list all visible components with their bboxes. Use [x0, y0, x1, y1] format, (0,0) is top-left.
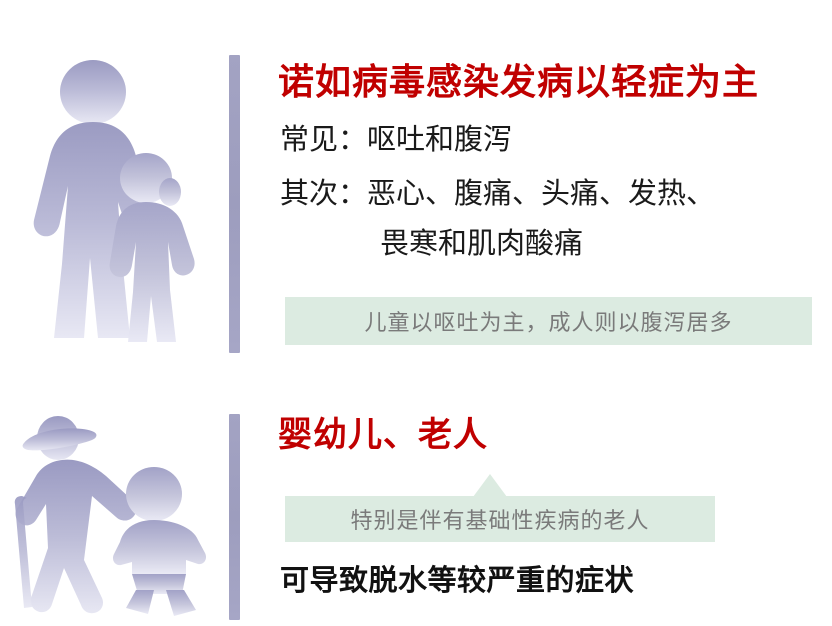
- elderly-with-cane-and-toddler-illustration: [14, 408, 220, 620]
- top-section-callout-box: 儿童以呕吐为主，成人则以腹泻居多: [285, 297, 812, 345]
- top-symptom-secondary-line-1: 其次：恶心、腹痛、头痛、发热、: [280, 178, 715, 211]
- bottom-section-headline: 婴幼儿、老人: [278, 417, 488, 454]
- bottom-section-emphasis-line: 可导致脱水等较严重的症状: [280, 557, 634, 599]
- slide-canvas: 诺如病毒感染发病以轻症为主 常见：呕吐和腹泻 其次：恶心、腹痛、头痛、发热、 畏…: [0, 0, 832, 626]
- callout-pointer-triangle-icon: [473, 474, 507, 497]
- section-divider-bar-top: [229, 55, 240, 353]
- top-symptom-secondary-line-2: 畏寒和肌肉酸痛: [380, 228, 583, 261]
- top-symptom-common-line: 常见：呕吐和腹泻: [280, 124, 512, 157]
- parent-and-child-figure-illustration: [18, 52, 218, 350]
- bottom-section-callout-box: 特别是伴有基础性疾病的老人: [285, 496, 715, 542]
- section-divider-bar-bottom: [229, 414, 240, 620]
- top-section-headline: 诺如病毒感染发病以轻症为主: [278, 62, 759, 102]
